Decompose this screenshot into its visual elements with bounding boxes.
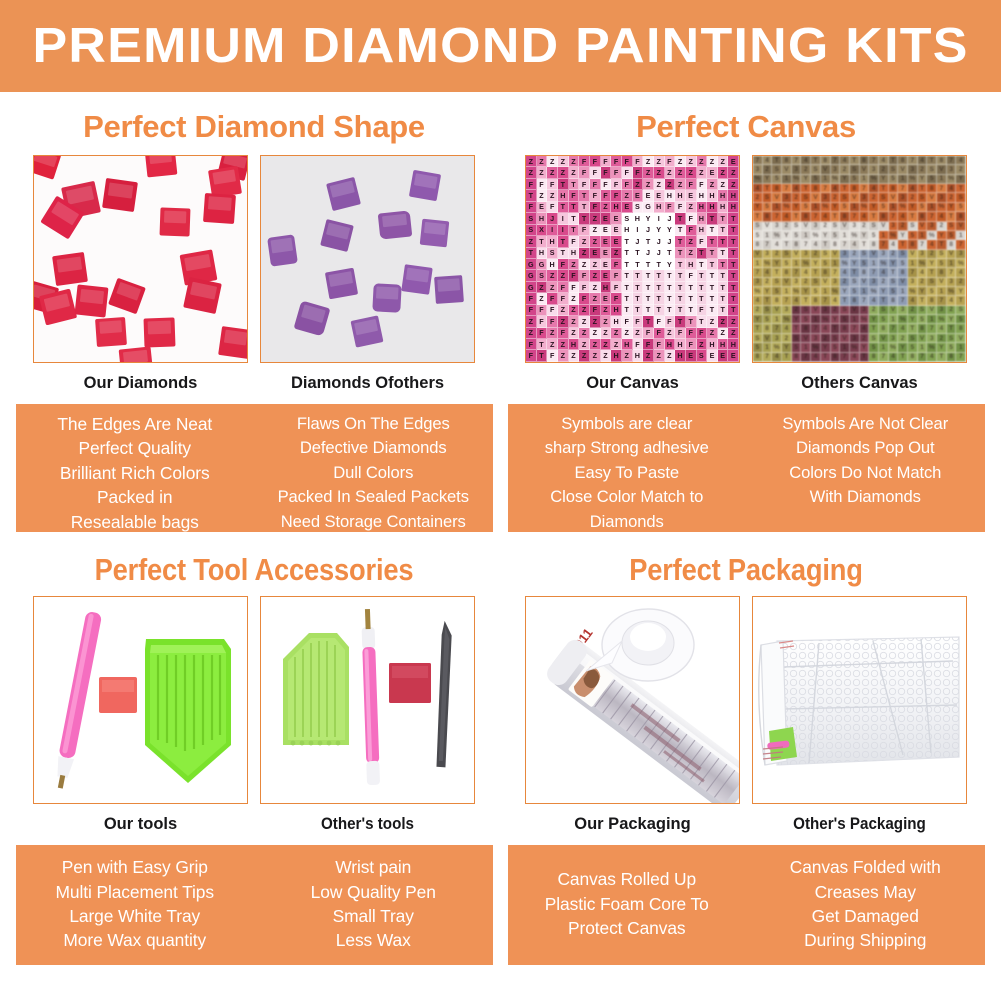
canvas-symbol-cell: S xyxy=(898,250,908,259)
canvas-symbol-cell: 8 xyxy=(956,324,966,333)
canvas-symbol-cell: 8 xyxy=(840,212,850,221)
canvas-symbol-cell: 5 xyxy=(947,231,957,240)
canvas-symbol-cell: T xyxy=(831,324,841,333)
canvas-symbol-cell: F xyxy=(654,316,665,327)
canvas-symbol-cell: % xyxy=(860,203,870,212)
canvas-symbol-cell: T xyxy=(718,236,729,247)
canvas-symbol-cell: 8 xyxy=(801,212,811,221)
canvas-symbol-cell: S xyxy=(850,165,860,174)
canvas-symbol-cell: Z xyxy=(590,350,601,361)
canvas-symbol-cell: Z xyxy=(558,316,569,327)
canvas-symbol-cell: 7 xyxy=(821,296,831,305)
canvas-symbol-cell: Y xyxy=(753,315,763,324)
canvas-symbol-cell: Y xyxy=(772,259,782,268)
canvas-symbol-cell: T xyxy=(860,240,870,249)
canvas-symbol-cell: 2 xyxy=(840,165,850,174)
canvas-symbol-cell: 2 xyxy=(753,306,763,315)
canvas-symbol-cell: Z xyxy=(579,259,590,270)
canvas-symbol-cell: E xyxy=(601,259,612,270)
canvas-symbol-cell: H xyxy=(611,305,622,316)
canvas-symbol-cell: V xyxy=(772,306,782,315)
canvas-symbol-cell: % xyxy=(821,315,831,324)
canvas-symbol-cell: E xyxy=(611,225,622,236)
canvas-symbol-cell: F xyxy=(611,282,622,293)
canvas-symbol-cell: F xyxy=(697,328,708,339)
canvas-symbol-cell: 7 xyxy=(801,353,811,362)
canvas-symbol-cell: 2 xyxy=(831,193,841,202)
canvas-symbol-cell: T xyxy=(937,353,947,362)
canvas-symbol-cell: 7 xyxy=(792,156,802,165)
canvas-symbol-cell: Z xyxy=(569,350,580,361)
canvas-symbol-cell: T xyxy=(558,179,569,190)
canvas-symbol-cell: F xyxy=(537,179,548,190)
header-banner: PREMIUM DIAMOND PAINTING KITS xyxy=(0,0,1001,92)
canvas-symbol-row: FEFTTTFZHESGHFFZHHHH xyxy=(526,202,739,213)
canvas-symbol-cell: Y xyxy=(879,175,889,184)
canvas-symbol-cell: T xyxy=(772,156,782,165)
canvas-symbol-cell: V xyxy=(763,222,773,231)
canvas-symbol-cell: F xyxy=(547,179,558,190)
canvas-symbol-cell: F xyxy=(579,179,590,190)
canvas-symbol-cell: E xyxy=(601,248,612,259)
canvas-symbol-cell: Y xyxy=(908,203,918,212)
canvas-symbol-cell: V xyxy=(918,222,928,231)
canvas-symbol-cell: Z xyxy=(558,167,569,178)
canvas-symbol-cell: S xyxy=(850,278,860,287)
canvas-symbol-cell: F xyxy=(590,202,601,213)
canvas-symbol-cell: T xyxy=(821,353,831,362)
canvas-symbol-cell: Z xyxy=(601,305,612,316)
canvas-symbol-cell: Z xyxy=(686,156,697,167)
canvas-symbol-cell: S xyxy=(821,250,831,259)
image-frame-others-diamonds xyxy=(260,155,475,363)
canvas-symbol-cell: T xyxy=(707,259,718,270)
canvas-symbol-cell: T xyxy=(675,305,686,316)
canvas-symbol-cell: 7 xyxy=(772,324,782,333)
canvas-symbol-cell: Z xyxy=(526,156,537,167)
bullets-ours-packaging: Canvas Rolled Up Plastic Foam Core To Pr… xyxy=(508,845,747,965)
canvas-symbol-cell: S xyxy=(927,278,937,287)
canvas-symbol-row: V32SV32SV32SV32SV32SV3 xyxy=(753,250,966,259)
canvas-symbol-cell: Z xyxy=(643,350,654,361)
canvas-symbol-cell: 1 xyxy=(763,231,773,240)
canvas-symbol-cell: T xyxy=(697,282,708,293)
canvas-symbol-cell: 5 xyxy=(908,231,918,240)
canvas-symbol-cell: 1 xyxy=(889,203,899,212)
caption-our-packaging: Our Packaging xyxy=(525,804,740,834)
canvas-symbol-cell: T xyxy=(850,268,860,277)
comparison-board: Perfect Diamond Shape xyxy=(0,92,1001,965)
canvas-symbol-cell: H xyxy=(569,248,580,259)
canvas-symbol-cell: 5 xyxy=(927,287,937,296)
canvas-symbol-cell: H xyxy=(537,213,548,224)
canvas-symbol-cell: Z xyxy=(526,167,537,178)
canvas-symbol-cell: 4 xyxy=(908,184,918,193)
canvas-symbol-cell: 1 xyxy=(772,203,782,212)
canvas-symbol-cell: 4 xyxy=(869,296,879,305)
canvas-symbol-cell: T xyxy=(840,184,850,193)
canvas-symbol-cell: F xyxy=(537,305,548,316)
canvas-symbol-row: SV32SV32SV32SV32SV32SV xyxy=(753,334,966,343)
canvas-symbol-cell: T xyxy=(643,293,654,304)
canvas-symbol-cell: Z xyxy=(579,236,590,247)
canvas-symbol-cell: V xyxy=(753,250,763,259)
bullets-ours-canvas: Symbols are clear sharp Strong adhesive … xyxy=(508,404,747,532)
canvas-symbol-cell: F xyxy=(686,328,697,339)
card-others-diamonds: Diamonds Ofothers xyxy=(260,155,475,393)
canvas-symbol-cell: T xyxy=(558,248,569,259)
canvas-symbol-cell: T xyxy=(537,339,548,350)
canvas-symbol-cell: H xyxy=(707,190,718,201)
canvas-symbol-cell: F xyxy=(611,167,622,178)
canvas-symbol-cell: % xyxy=(753,287,763,296)
bullet-item: Canvas Folded with xyxy=(748,855,983,879)
canvas-symbol-cell: V xyxy=(821,278,831,287)
canvas-symbol-cell: 3 xyxy=(772,334,782,343)
canvas-symbol-row: SHJITTZEESHYIJTFHTTT xyxy=(526,213,739,224)
canvas-symbol-cell: Z xyxy=(547,328,558,339)
canvas-symbol-cell: H xyxy=(611,316,622,327)
canvas-symbol-cell: 5 xyxy=(860,259,870,268)
canvas-symbol-cell: 1 xyxy=(898,175,908,184)
canvas-symbol-cell: % xyxy=(811,343,821,352)
canvas-symbol-cell: H xyxy=(601,282,612,293)
canvas-symbol-cell: 5 xyxy=(879,315,889,324)
cards-tool-accessories: Our tools xyxy=(8,596,500,834)
canvas-symbol-cell: T xyxy=(579,190,590,201)
canvas-symbol-cell: Z xyxy=(665,167,676,178)
canvas-symbol-cell: Z xyxy=(686,202,697,213)
bullet-item: Close Color Match to xyxy=(510,485,745,509)
canvas-symbol-cell: 4 xyxy=(763,156,773,165)
canvas-symbol-cell: 3 xyxy=(869,278,879,287)
canvas-symbol-row: SXIITFZEEHIJYYTFHTTT xyxy=(526,225,739,236)
canvas-symbol-cell: 7 xyxy=(840,353,850,362)
canvas-symbol-cell: T xyxy=(753,212,763,221)
canvas-symbol-cell: G xyxy=(643,202,654,213)
canvas-symbol-cell: 8 xyxy=(821,156,831,165)
bullet-item: Large White Tray xyxy=(18,904,253,928)
canvas-symbol-cell: 5 xyxy=(840,315,850,324)
canvas-symbol-cell: H xyxy=(537,248,548,259)
bullet-item: Resealable bags xyxy=(18,510,253,534)
canvas-symbol-cell: H xyxy=(697,190,708,201)
canvas-symbol-cell: Y xyxy=(850,259,860,268)
canvas-symbol-cell: % xyxy=(947,175,957,184)
canvas-symbol-cell: 2 xyxy=(782,334,792,343)
canvas-symbol-cell: H xyxy=(697,225,708,236)
canvas-symbol-row: 2SV32SV32SV32SV32SV32S xyxy=(753,193,966,202)
caption-our-tools: Our tools xyxy=(33,804,248,834)
canvas-symbol-cell: 1 xyxy=(763,343,773,352)
bullets-others-canvas: Symbols Are Not Clear Diamonds Pop Out C… xyxy=(746,404,985,532)
canvas-symbol-cell: 8 xyxy=(821,268,831,277)
canvas-symbol-cell: 8 xyxy=(869,240,879,249)
canvas-symbol-cell: 8 xyxy=(898,268,908,277)
bullet-item: Less Wax xyxy=(256,928,491,952)
canvas-symbol-cell: F xyxy=(611,179,622,190)
infographic-page: PREMIUM DIAMOND PAINTING KITS Perfect Di… xyxy=(0,0,1001,1001)
canvas-symbol-cell: Z xyxy=(579,339,590,350)
canvas-symbol-cell: Z xyxy=(728,179,739,190)
photo-symbol-canvas: ZZZZZFFFFFFZZFZZZZZEZZZZZFFFFFFZZZZZZEZZ… xyxy=(526,156,739,362)
canvas-symbol-cell: H xyxy=(665,190,676,201)
canvas-symbol-cell: T xyxy=(526,190,537,201)
canvas-symbol-cell: 3 xyxy=(908,278,918,287)
canvas-symbol-cell: Y xyxy=(782,343,792,352)
canvas-symbol-cell: F xyxy=(558,328,569,339)
canvas-symbol-cell: V xyxy=(782,165,792,174)
canvas-symbol-cell: T xyxy=(869,212,879,221)
canvas-symbol-cell: 7 xyxy=(821,184,831,193)
canvas-symbol-cell: H xyxy=(697,202,708,213)
canvas-symbol-cell: Z xyxy=(547,190,558,201)
canvas-symbol-cell: V xyxy=(869,250,879,259)
canvas-symbol-row: 4T874T874T874T874T874T xyxy=(753,296,966,305)
canvas-symbol-cell: H xyxy=(707,339,718,350)
section-title-tool-accessories: Perfect Tool Accessories xyxy=(38,544,471,596)
section-packaging: Perfect Packaging xyxy=(500,532,992,965)
canvas-symbol-cell: F xyxy=(569,282,580,293)
bullet-item: Symbols are clear xyxy=(510,412,745,436)
canvas-symbol-cell: Z xyxy=(601,202,612,213)
canvas-symbol-cell: 7 xyxy=(947,268,957,277)
our-tools-illustration xyxy=(34,597,248,804)
canvas-symbol-cell: % xyxy=(947,287,957,296)
canvas-symbol-cell: S xyxy=(526,225,537,236)
canvas-symbol-cell: Y xyxy=(821,343,831,352)
canvas-symbol-cell: T xyxy=(633,270,644,281)
canvas-symbol-cell: T xyxy=(633,282,644,293)
canvas-symbol-cell: Z xyxy=(579,305,590,316)
canvas-symbol-cell: 4 xyxy=(850,240,860,249)
image-frame-others-packaging xyxy=(752,596,967,804)
canvas-symbol-cell: 8 xyxy=(860,268,870,277)
bullet-item: The Edges Are Neat xyxy=(18,412,253,436)
canvas-symbol-cell: 1 xyxy=(792,259,802,268)
canvas-symbol-cell: S xyxy=(811,278,821,287)
canvas-symbol-cell: Y xyxy=(860,231,870,240)
canvas-symbol-cell: T xyxy=(622,282,633,293)
canvas-symbol-row: 74T874T874T874T874T874 xyxy=(753,156,966,165)
canvas-symbol-cell: 4 xyxy=(947,296,957,305)
canvas-symbol-cell: Y xyxy=(840,287,850,296)
canvas-symbol-cell: T xyxy=(792,324,802,333)
photo-our-packaging: SS-011 xyxy=(526,597,739,803)
canvas-symbol-cell: S xyxy=(840,193,850,202)
canvas-symbol-cell: 8 xyxy=(947,240,957,249)
canvas-symbol-cell: Z xyxy=(579,248,590,259)
canvas-symbol-cell: S xyxy=(763,193,773,202)
canvas-symbol-cell: 7 xyxy=(937,296,947,305)
canvas-symbol-cell: F xyxy=(665,156,676,167)
canvas-symbol-cell: 5 xyxy=(889,175,899,184)
canvas-symbol-cell: V xyxy=(772,193,782,202)
canvas-symbol-cell: F xyxy=(526,293,537,304)
canvas-symbol-cell: F xyxy=(665,202,676,213)
canvas-symbol-cell: F xyxy=(547,293,558,304)
canvas-symbol-cell: H xyxy=(728,339,739,350)
canvas-symbol-cell: T xyxy=(643,236,654,247)
canvas-symbol-cell: H xyxy=(718,339,729,350)
canvas-symbol-cell: Z xyxy=(569,259,580,270)
canvas-symbol-cell: T xyxy=(654,270,665,281)
canvas-symbol-cell: 7 xyxy=(840,240,850,249)
canvas-symbol-cell: Z xyxy=(686,236,697,247)
canvas-symbol-cell: T xyxy=(643,282,654,293)
section-tool-accessories: Perfect Tool Accessories xyxy=(8,532,500,965)
canvas-symbol-cell: T xyxy=(718,225,729,236)
canvas-symbol-cell: 7 xyxy=(947,156,957,165)
canvas-symbol-cell: H xyxy=(654,202,665,213)
photo-red-diamonds xyxy=(34,156,247,362)
canvas-symbol-cell: 1 xyxy=(927,203,937,212)
bullets-ours-tools: Pen with Easy Grip Multi Placement Tips … xyxy=(16,845,255,965)
canvas-symbol-cell: T xyxy=(792,212,802,221)
canvas-symbol-cell: G xyxy=(526,270,537,281)
canvas-symbol-cell: F xyxy=(611,156,622,167)
photo-purple-diamonds xyxy=(261,156,474,362)
canvas-symbol-cell: Z xyxy=(590,225,601,236)
canvas-symbol-cell: 8 xyxy=(879,212,889,221)
canvas-symbol-cell: S xyxy=(889,278,899,287)
bubble-mailer-illustration xyxy=(753,597,967,804)
canvas-symbol-cell: 3 xyxy=(927,334,937,343)
photo-others-tools xyxy=(261,597,474,803)
canvas-symbol-cell: E xyxy=(601,293,612,304)
canvas-symbol-cell: 8 xyxy=(763,324,773,333)
canvas-symbol-cell: % xyxy=(869,175,879,184)
canvas-symbol-cell: 2 xyxy=(937,334,947,343)
canvas-symbol-cell: 7 xyxy=(898,184,908,193)
canvas-symbol-row: FFFZZZFZHTTTTTTTFTTT xyxy=(526,305,739,316)
canvas-symbol-cell: T xyxy=(782,240,792,249)
canvas-symbol-cell: T xyxy=(643,305,654,316)
canvas-symbol-cell: T xyxy=(622,259,633,270)
canvas-symbol-cell: Z xyxy=(675,179,686,190)
canvas-symbol-cell: T xyxy=(569,179,580,190)
canvas-symbol-cell: T xyxy=(811,156,821,165)
canvas-symbol-cell: 7 xyxy=(792,268,802,277)
canvas-symbol-row: 51%Y51%Y51%Y51%Y51%Y51 xyxy=(753,231,966,240)
canvas-symbol-cell: Y xyxy=(956,287,966,296)
canvas-symbol-row: GGHFZZZEFTTTTYTHTTTT xyxy=(526,259,739,270)
canvas-symbol-row: THSTHZEEZTTJJTTZTTTT xyxy=(526,248,739,259)
canvas-symbol-cell: F xyxy=(601,179,612,190)
canvas-symbol-cell: V xyxy=(860,278,870,287)
canvas-symbol-cell: V xyxy=(889,193,899,202)
canvas-symbol-cell: S xyxy=(947,222,957,231)
canvas-symbol-cell: Z xyxy=(547,282,558,293)
canvas-symbol-cell: % xyxy=(772,231,782,240)
canvas-symbol-cell: S xyxy=(526,213,537,224)
canvas-symbol-cell: T xyxy=(579,202,590,213)
canvas-symbol-cell: T xyxy=(753,324,763,333)
canvas-symbol-cell: J xyxy=(643,225,654,236)
canvas-symbol-cell: 8 xyxy=(753,240,763,249)
canvas-symbol-cell: E xyxy=(707,167,718,178)
canvas-symbol-cell: 3 xyxy=(792,165,802,174)
canvas-symbol-cell: 4 xyxy=(927,353,937,362)
canvas-symbol-cell: T xyxy=(707,248,718,259)
canvas-symbol-cell: T xyxy=(686,305,697,316)
canvas-symbol-cell: F xyxy=(526,339,537,350)
canvas-symbol-cell: 3 xyxy=(850,222,860,231)
canvas-symbol-cell: 1 xyxy=(840,231,850,240)
canvas-symbol-cell: S xyxy=(537,270,548,281)
canvas-symbol-cell: 4 xyxy=(860,212,870,221)
canvas-symbol-cell: 4 xyxy=(850,353,860,362)
canvas-symbol-cell: 2 xyxy=(763,165,773,174)
canvas-symbol-cell: 3 xyxy=(801,250,811,259)
canvas-symbol-cell: 2 xyxy=(927,250,937,259)
canvas-symbol-cell: 4 xyxy=(947,184,957,193)
canvas-symbol-cell: E xyxy=(537,202,548,213)
canvas-symbol-cell: 5 xyxy=(869,231,879,240)
canvas-symbol-cell: 5 xyxy=(850,287,860,296)
canvas-symbol-cell: T xyxy=(697,248,708,259)
canvas-symbol-cell: 4 xyxy=(889,240,899,249)
canvas-symbol-cell: T xyxy=(772,268,782,277)
bullet-item: Get Damaged xyxy=(748,904,983,928)
canvas-symbol-cell: T xyxy=(697,293,708,304)
canvas-symbol-cell: V xyxy=(937,278,947,287)
canvas-symbol-cell: Z xyxy=(558,270,569,281)
canvas-symbol-cell: % xyxy=(889,343,899,352)
bullet-item: Perfect Quality xyxy=(18,436,253,460)
canvas-symbol-cell: V xyxy=(831,250,841,259)
canvas-symbol-cell: E xyxy=(611,213,622,224)
canvas-symbol-row: 874T874T874T874T874T87 xyxy=(753,240,966,249)
canvas-symbol-cell: 8 xyxy=(956,212,966,221)
canvas-symbol-cell: G xyxy=(537,259,548,270)
canvas-symbol-cell: Y xyxy=(811,259,821,268)
canvas-symbol-cell: Y xyxy=(840,175,850,184)
canvas-symbol-cell: 8 xyxy=(811,184,821,193)
canvas-symbol-cell: F xyxy=(633,316,644,327)
section-diamond-shape: Perfect Diamond Shape xyxy=(8,92,500,532)
canvas-symbol-cell: 5 xyxy=(763,315,773,324)
canvas-symbol-cell: V xyxy=(860,165,870,174)
canvas-symbol-row: 4T874T874T874T874T874T xyxy=(753,184,966,193)
canvas-symbol-cell: T xyxy=(707,270,718,281)
canvas-symbol-cell: 7 xyxy=(763,353,773,362)
canvas-symbol-cell: Z xyxy=(707,328,718,339)
canvas-symbol-cell: 3 xyxy=(811,334,821,343)
canvas-symbol-cell: 3 xyxy=(860,193,870,202)
canvas-symbol-cell: Z xyxy=(579,328,590,339)
canvas-symbol-cell: 1 xyxy=(879,343,889,352)
canvas-symbol-cell: 3 xyxy=(772,222,782,231)
canvas-symbol-cell: S xyxy=(908,222,918,231)
canvas-symbol-cell: 8 xyxy=(753,353,763,362)
canvas-symbol-cell: S xyxy=(753,334,763,343)
bullet-item: Flaws On The Edges xyxy=(256,412,491,436)
image-frame-our-diamonds xyxy=(33,155,248,363)
canvas-symbol-cell: 4 xyxy=(879,156,889,165)
canvas-symbol-cell: 4 xyxy=(860,324,870,333)
canvas-symbol-cell: 3 xyxy=(753,165,763,174)
canvas-symbol-cell: 7 xyxy=(801,240,811,249)
canvas-symbol-cell: Y xyxy=(763,287,773,296)
canvas-symbol-cell: F xyxy=(665,316,676,327)
canvas-symbol-cell: 2 xyxy=(908,193,918,202)
canvas-symbol-cell: I xyxy=(558,213,569,224)
bullets-diamond-shape: The Edges Are Neat Perfect Quality Brill… xyxy=(16,404,493,532)
canvas-symbol-cell: F xyxy=(590,305,601,316)
canvas-symbol-cell: H xyxy=(622,339,633,350)
cards-canvas: ZZZZZFFFFFFZZFZZZZZEZZZZZFFFFFFZZZZZZEZZ… xyxy=(500,155,992,393)
